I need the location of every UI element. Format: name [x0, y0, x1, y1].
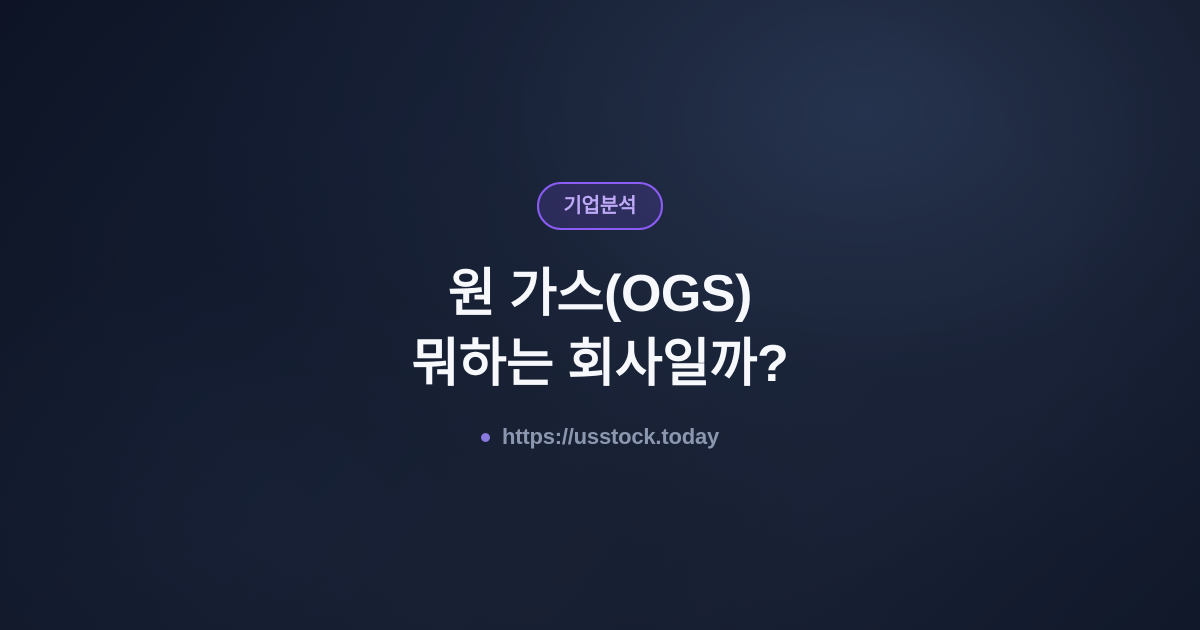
page-title-line-2: 뭐하는 회사일까? — [412, 329, 789, 399]
card-content: 기업분석 원 가스(OGS) 뭐하는 회사일까? https://usstock… — [0, 0, 1200, 630]
page-title-line-1: 원 가스(OGS) — [412, 259, 789, 329]
site-url-row: https://usstock.today — [481, 426, 719, 448]
bullet-dot-icon — [481, 433, 490, 442]
page-title: 원 가스(OGS) 뭐하는 회사일까? — [412, 259, 789, 399]
category-badge-label: 기업분석 — [564, 196, 637, 216]
og-image-card: 기업분석 원 가스(OGS) 뭐하는 회사일까? https://usstock… — [0, 0, 1200, 630]
category-badge: 기업분석 — [537, 182, 664, 230]
site-url-label: https://usstock.today — [502, 426, 719, 448]
